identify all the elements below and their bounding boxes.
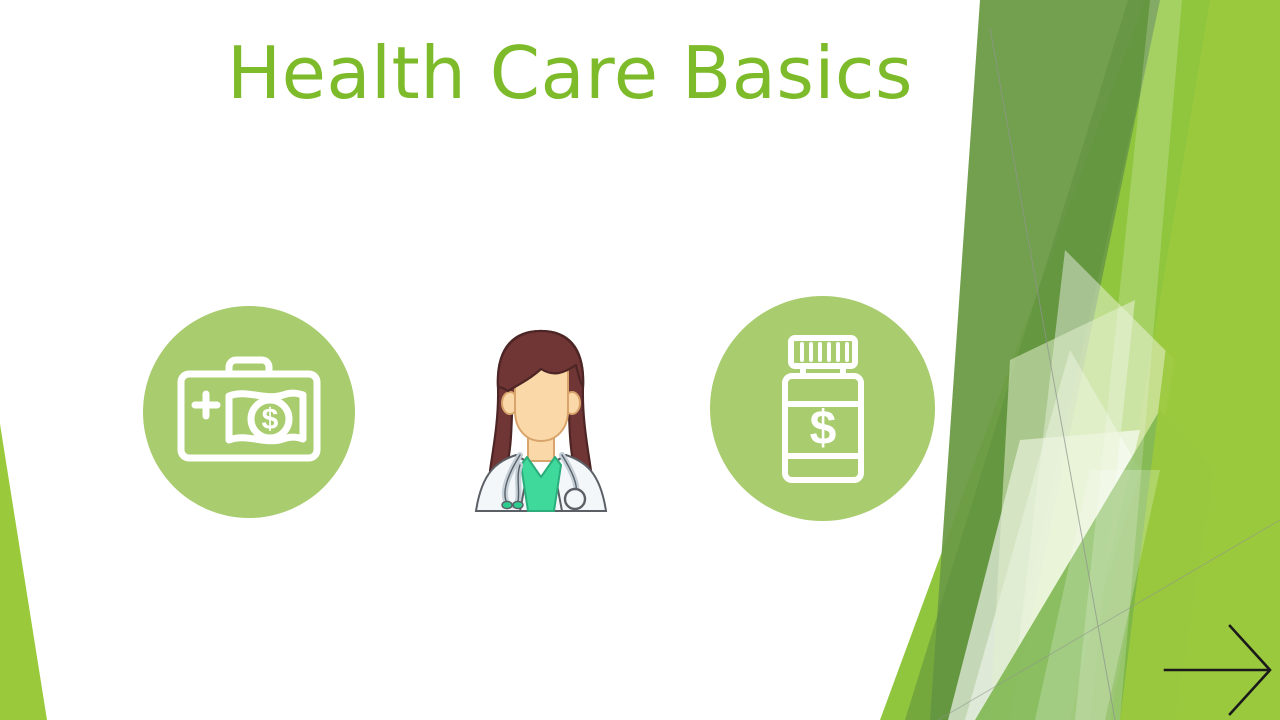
- slide-canvas: Health Care Basics $: [0, 0, 1280, 720]
- medical-bag-money-icon[interactable]: $: [143, 306, 355, 518]
- page-title: Health Care Basics: [0, 36, 1140, 112]
- next-arrow-icon[interactable]: [1160, 618, 1275, 720]
- doctor-illustration[interactable]: [458, 325, 623, 515]
- dollar-symbol: $: [262, 403, 279, 436]
- stethoscope-tip-left: [502, 501, 512, 508]
- stethoscope-tip-right: [513, 501, 523, 508]
- bottom-left-wedge-shape: [0, 424, 47, 720]
- stethoscope-chestpiece: [565, 489, 585, 509]
- dollar-symbol: $: [809, 402, 836, 455]
- pill-bottle-money-icon[interactable]: $: [710, 296, 935, 521]
- deco-shape-palest: [948, 430, 1140, 720]
- title-block: Health Care Basics: [0, 36, 1140, 112]
- medical-bag-money-glyph: $: [173, 352, 325, 472]
- pill-bottle-money-glyph: $: [775, 334, 871, 484]
- deco-hairline-vertical: [990, 28, 1115, 720]
- doctor-scrubs: [521, 457, 561, 511]
- deco-shape-pale-lower: [965, 350, 1140, 720]
- deco-shape-light-sweep: [990, 300, 1135, 720]
- deco-shape-pale: [1010, 250, 1175, 720]
- deco-shape-highlight-b: [1035, 470, 1160, 720]
